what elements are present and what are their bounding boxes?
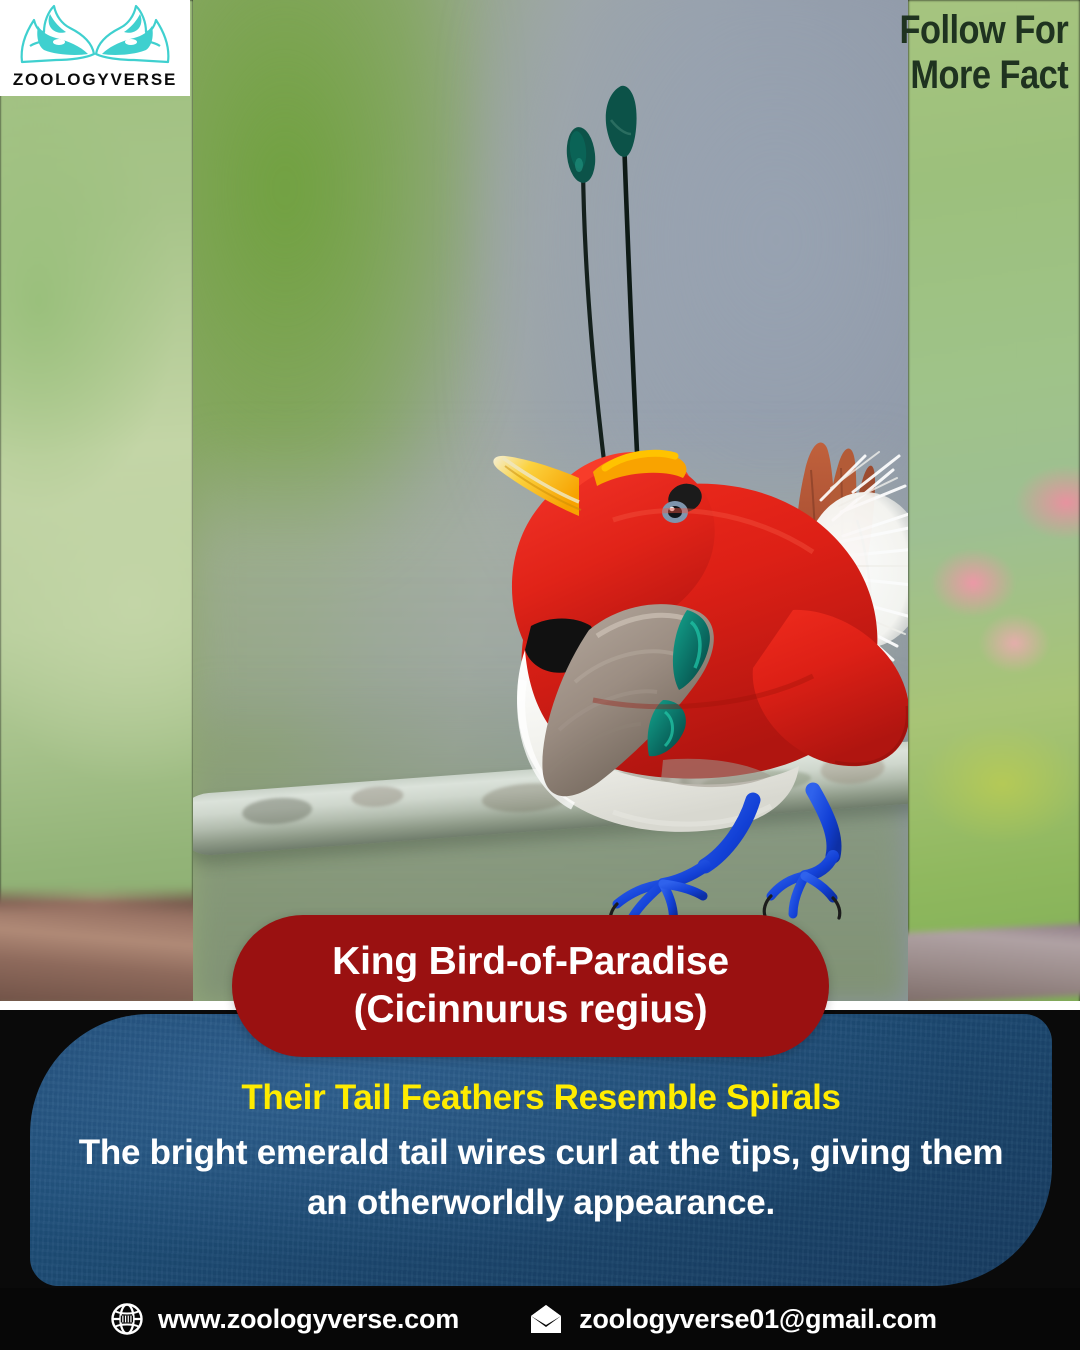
follow-cta-line2: More Fact xyxy=(899,53,1068,98)
right-blurred-background xyxy=(908,0,1080,1005)
twin-wolf-heads-icon xyxy=(10,2,180,79)
open-envelope-icon xyxy=(527,1303,565,1335)
left-blurred-background xyxy=(0,0,193,1005)
species-scientific-name: (Cicinnurus regius) xyxy=(354,986,708,1034)
website-url: www.zoologyverse.com xyxy=(158,1304,459,1335)
follow-cta-line1: Follow For xyxy=(899,8,1068,53)
follow-cta: Follow For More Fact xyxy=(899,8,1068,98)
email-address: zoologyverse01@gmail.com xyxy=(579,1304,937,1335)
left-background-branch xyxy=(0,900,205,1005)
species-title-badge: King Bird-of-Paradise (Cicinnurus regius… xyxy=(232,915,829,1057)
fact-body: The bright emerald tail wires curl at th… xyxy=(66,1128,1016,1227)
fact-heading: Their Tail Feathers Resemble Spirals xyxy=(241,1078,840,1118)
website-contact[interactable]: www.zoologyverse.com xyxy=(110,1302,459,1336)
poster-canvas: King Bird-of-Paradise (Cicinnurus regius… xyxy=(0,0,1080,1350)
email-contact[interactable]: zoologyverse01@gmail.com xyxy=(527,1303,937,1335)
bird-photo xyxy=(193,0,908,1005)
right-background-branch xyxy=(898,923,1080,1005)
footer-bar: www.zoologyverse.com zoologyverse01@gmai… xyxy=(0,1288,1080,1350)
brand-logo-text: ZOOLOGYVERSE xyxy=(13,70,177,90)
king-bird-of-paradise xyxy=(193,0,908,1005)
brand-logo[interactable]: ZOOLOGYVERSE xyxy=(0,0,190,96)
globe-icon xyxy=(110,1302,144,1336)
photo-band xyxy=(0,0,1080,1005)
species-common-name: King Bird-of-Paradise xyxy=(332,938,729,986)
